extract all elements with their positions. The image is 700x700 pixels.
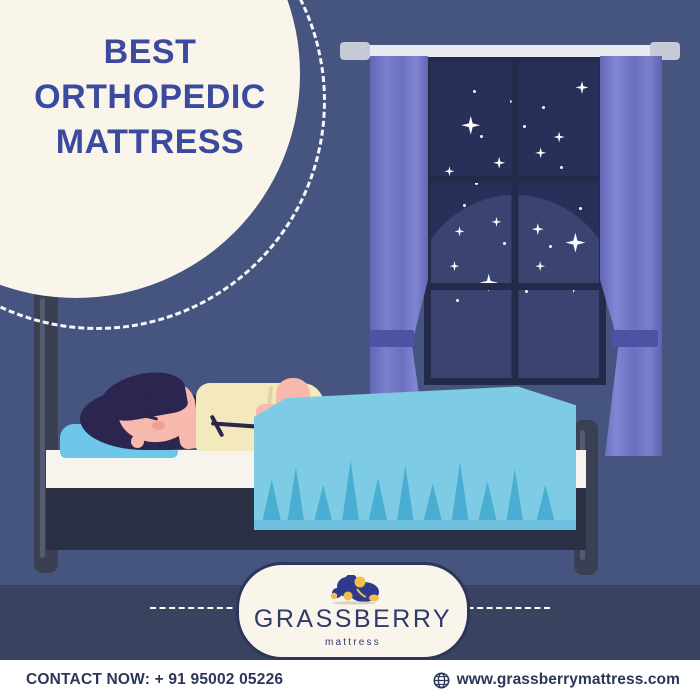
- star-icon: [535, 147, 546, 158]
- star-icon: [493, 157, 505, 169]
- window-mullion-horizontal: [431, 283, 599, 290]
- star-dot-icon: [549, 245, 552, 248]
- poster-canvas: BEST ORTHOPEDIC MATTRESS GRASSBERRY matt…: [0, 0, 700, 700]
- headline-line-3: MATTRESS: [0, 120, 300, 165]
- star-dot-icon: [542, 106, 545, 109]
- star-dot-icon: [523, 125, 526, 128]
- blanket-folds: [254, 440, 576, 530]
- curtain-rod-cap-left: [340, 42, 370, 60]
- page-title: BEST ORTHOPEDIC MATTRESS: [0, 30, 300, 165]
- footer-bar: CONTACT NOW: + 91 95002 05226 www.grassb…: [0, 660, 700, 700]
- star-icon: [554, 132, 565, 143]
- curtain-right: [600, 56, 662, 456]
- logo-tagline: mattress: [325, 637, 381, 648]
- star-dot-icon: [560, 166, 563, 169]
- headline-line-1: BEST: [0, 30, 300, 75]
- logo-brand-name: GRASSBERRY: [254, 607, 452, 632]
- window-mullion-vertical: [512, 62, 519, 378]
- person-cheek: [152, 421, 165, 430]
- blanket-edge: [254, 520, 576, 530]
- website-text[interactable]: www.grassberrymattress.com: [457, 671, 680, 689]
- badge-dashed-line-right: [458, 607, 550, 609]
- person-ear: [131, 435, 144, 448]
- curtain-tieback-right: [612, 330, 658, 347]
- globe-icon: [433, 672, 450, 689]
- star-icon: [575, 81, 588, 94]
- curtain-tieback-left: [370, 330, 414, 347]
- badge-dashed-line-left: [150, 607, 242, 609]
- sleeping-bear-icon: [324, 575, 382, 605]
- star-dot-icon: [579, 207, 582, 210]
- headline-line-2: ORTHOPEDIC: [0, 75, 300, 120]
- bed-post-left-highlight: [40, 298, 45, 558]
- window-mullion-horizontal: [431, 176, 599, 183]
- star-dot-icon: [480, 135, 483, 138]
- person-nose: [169, 398, 178, 407]
- contact-text: CONTACT NOW: + 91 95002 05226: [26, 671, 283, 689]
- window-frame: [424, 55, 606, 385]
- website-group[interactable]: www.grassberrymattress.com: [433, 671, 680, 689]
- star-icon: [461, 116, 480, 135]
- star-dot-icon: [473, 90, 476, 93]
- night-sky: [431, 62, 599, 378]
- logo-badge: GRASSBERRY mattress: [236, 562, 470, 660]
